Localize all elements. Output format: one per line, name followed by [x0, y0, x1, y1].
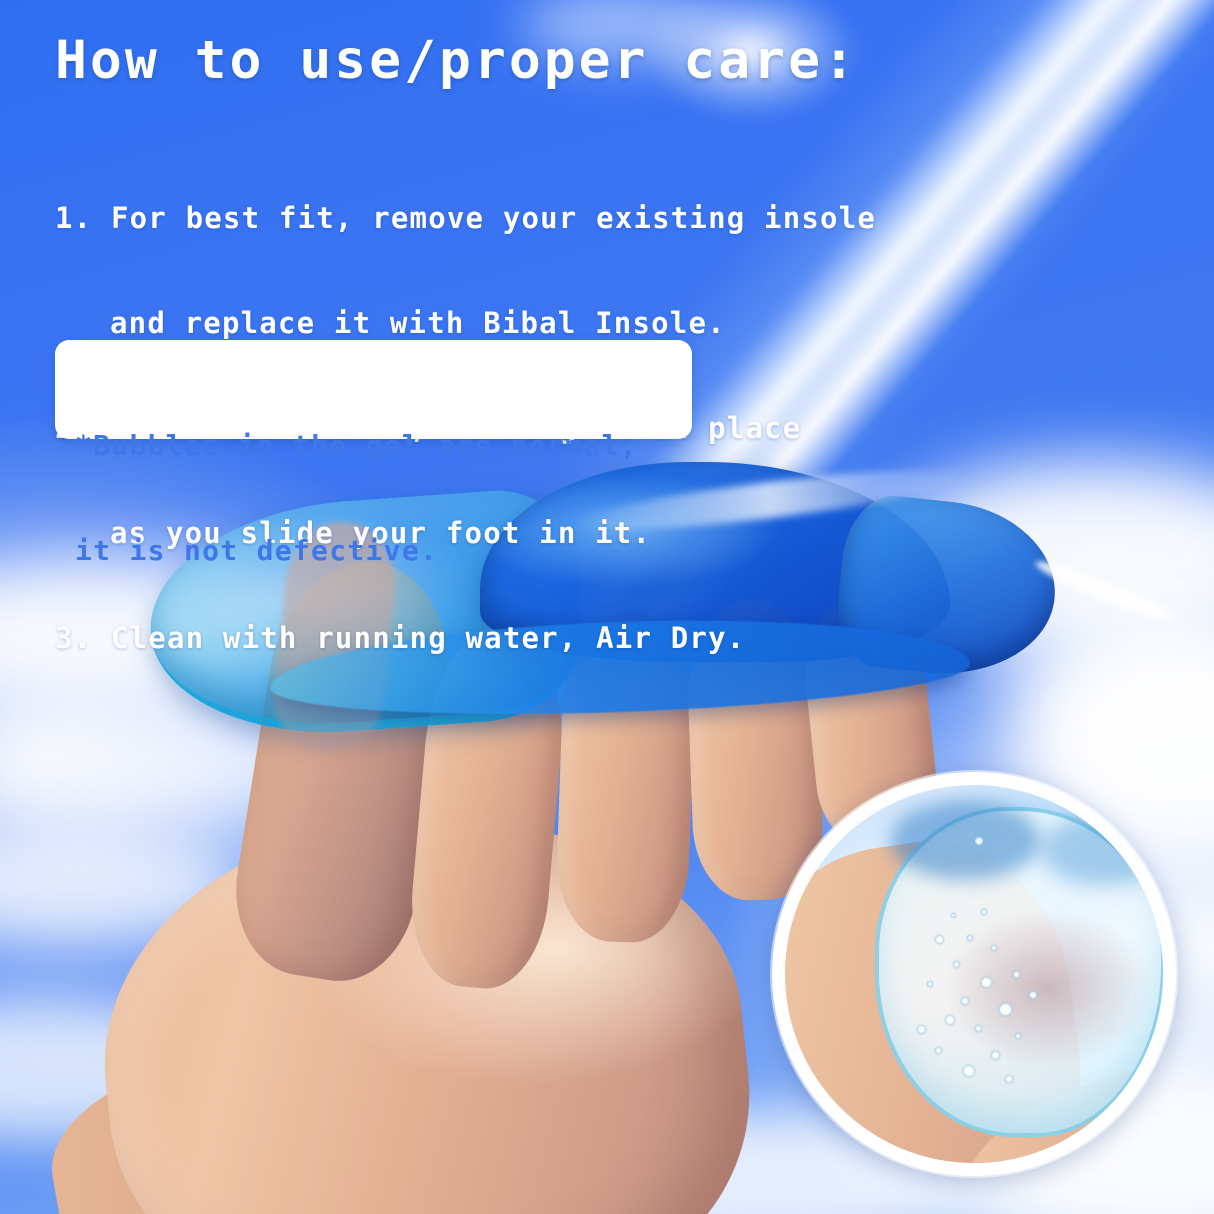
bubble-closeup-inset: [772, 772, 1176, 1176]
inset-shadow-b: [1040, 815, 1170, 885]
gel-bubble: [917, 1025, 926, 1034]
gel-bubble: [935, 1047, 942, 1054]
step-1-line-2: and replace it with Bibal Insole.: [55, 306, 876, 341]
gel-bubble: [1029, 991, 1037, 999]
step-1-line-1: 1. For best fit, remove your existing in…: [55, 201, 876, 236]
gel-bubble: [1005, 1075, 1013, 1083]
bubbles-note-line-1: *Bubbles in the gel are normal,: [75, 428, 638, 463]
gel-bubble: [981, 909, 987, 915]
gel-bubble: [991, 945, 997, 951]
gel-bubble: [927, 981, 933, 987]
inset-shadow-a: [890, 800, 1040, 880]
gel-bubble: [975, 1025, 982, 1032]
page-title: How to use/proper care:: [55, 33, 858, 89]
bubbles-note-callout: *Bubbles in the gel are normal, it is no…: [55, 340, 692, 439]
gel-bubble: [999, 1003, 1012, 1016]
gel-bubble: [981, 977, 992, 988]
product-infographic: How to use/proper care: 1. For best fit,…: [0, 0, 1214, 1214]
gel-bubble: [967, 935, 973, 941]
gel-bubble: [945, 1015, 955, 1025]
bubbles-note-line-2: it is not defective.: [75, 533, 638, 568]
gel-bubble: [963, 1065, 975, 1077]
gel-bubble: [1015, 1033, 1021, 1039]
gel-bubble: [961, 997, 969, 1005]
bubbles-note-text: *Bubbles in the gel are normal, it is no…: [75, 358, 638, 638]
gel-bubble: [975, 837, 983, 845]
gel-bubble: [991, 1051, 1000, 1060]
gel-bubble: [1013, 971, 1020, 978]
gel-bubble: [935, 935, 944, 944]
gel-bubble: [951, 913, 956, 918]
gel-bubble: [953, 961, 960, 968]
